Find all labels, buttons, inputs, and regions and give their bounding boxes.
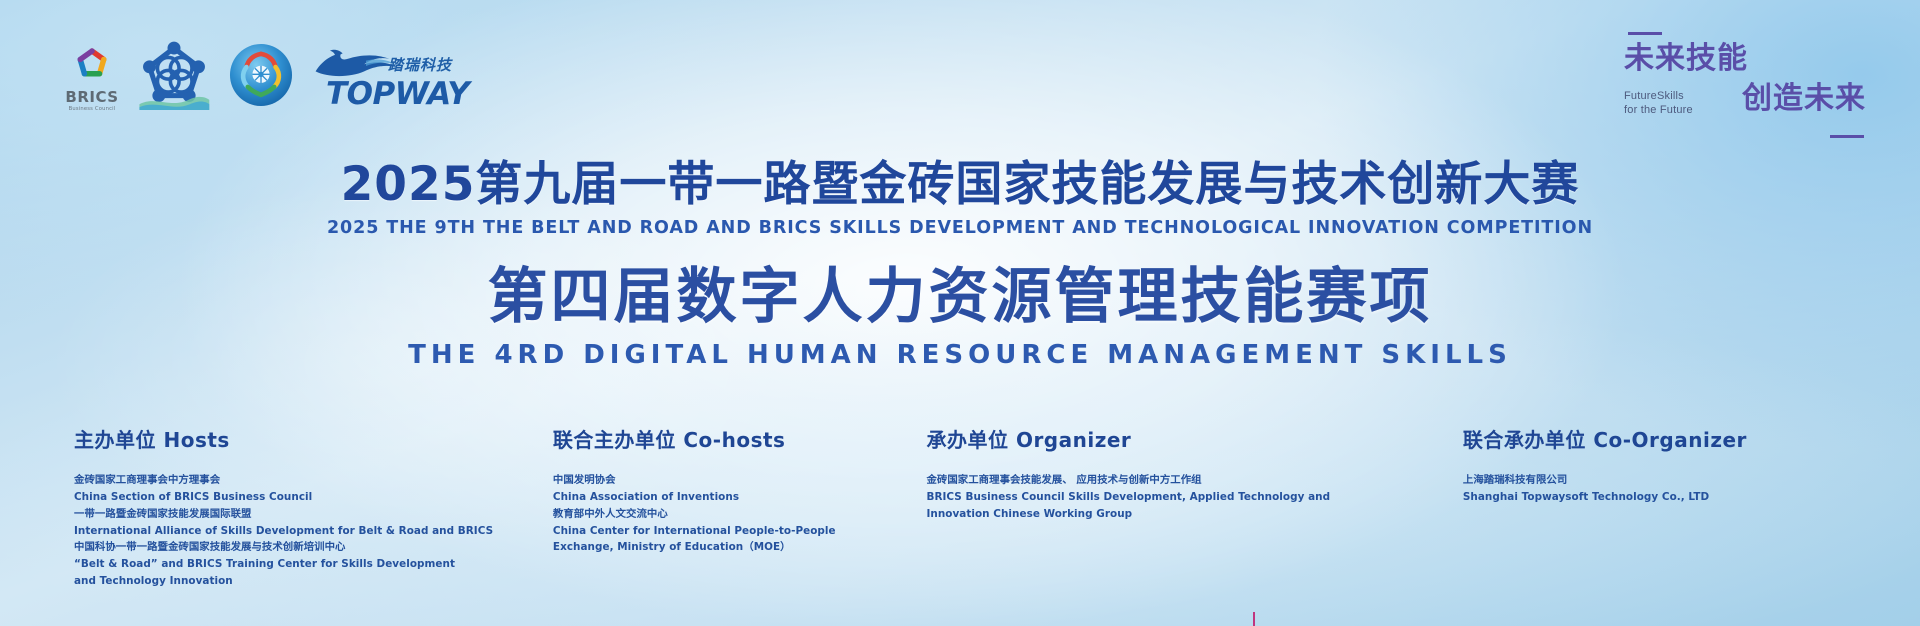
organizer-section: 主办单位 Hosts 金砖国家工商理事会中方理事会 China Section … xyxy=(0,430,1920,590)
organizer-line: 上海踏瑞科技有限公司 xyxy=(1463,472,1846,489)
organizer-column-organizer: 承办单位 Organizer 金砖国家工商理事会技能发展、 应用技术与创新中方工… xyxy=(926,430,1462,523)
brics-logo-subtext: Business Council xyxy=(64,107,120,112)
organizer-line: 一带一路暨金砖国家技能发展国际联盟 xyxy=(74,506,553,523)
organizer-lines: 上海踏瑞科技有限公司 Shanghai Topwaysoft Technolog… xyxy=(1463,472,1846,506)
event-title-chinese: 第四届数字人力资源管理技能赛项 xyxy=(0,264,1920,330)
brics-skills-emblem-logo xyxy=(228,40,294,112)
organizer-line: China Association of Inventions xyxy=(553,489,927,506)
event-title-english: THE 4RD DIGITAL HUMAN RESOURCE MANAGEMEN… xyxy=(0,340,1920,370)
organizer-line: Shanghai Topwaysoft Technology Co., LTD xyxy=(1463,489,1846,506)
organizer-column-cohosts: 联合主办单位 Co-hosts 中国发明协会 China Association… xyxy=(553,430,927,556)
organizer-line: China Center for International People-to… xyxy=(553,523,927,540)
banner-title-block: 2025第九届一带一路暨金砖国家技能发展与技术创新大赛 2025 THE 9TH… xyxy=(0,160,1920,370)
organizer-line: BRICS Business Council Skills Developmen… xyxy=(926,489,1462,506)
page-edge-marker xyxy=(1253,612,1255,626)
organizer-line: “Belt & Road” and BRICS Training Center … xyxy=(74,556,553,573)
topway-chinese-name: 踏瑞科技 xyxy=(388,54,452,75)
organizer-line: 金砖国家工商理事会中方理事会 xyxy=(74,472,553,489)
brics-star-icon xyxy=(71,46,113,88)
brics-logo-text: BRICS xyxy=(64,90,120,105)
organizer-heading: 联合主办单位 Co-hosts xyxy=(553,430,927,450)
organizer-column-hosts: 主办单位 Hosts 金砖国家工商理事会中方理事会 China Section … xyxy=(74,430,553,590)
organizer-line: China Section of BRICS Business Council xyxy=(74,489,553,506)
topway-logo: 踏瑞科技 TOPWAY xyxy=(312,46,452,112)
event-banner: BRICS Business Council xyxy=(0,0,1920,626)
organizer-line: 金砖国家工商理事会技能发展、 应用技术与创新中方工作组 xyxy=(926,472,1462,489)
knot-icon xyxy=(143,42,205,102)
organizer-heading: 主办单位 Hosts xyxy=(74,430,553,450)
organizer-line: International Alliance of Skills Develop… xyxy=(74,523,553,540)
organizer-line: 中国发明协会 xyxy=(553,472,927,489)
competition-title-chinese: 2025第九届一带一路暨金砖国家技能发展与技术创新大赛 xyxy=(0,160,1920,211)
organizer-line: 教育部中外人文交流中心 xyxy=(553,506,927,523)
slogan-english: FutureSkills for the Future xyxy=(1624,90,1693,118)
organizer-lines: 中国发明协会 China Association of Inventions 教… xyxy=(553,472,927,556)
slogan-rule-bottom xyxy=(1830,135,1864,138)
brics-business-council-logo: BRICS Business Council xyxy=(64,46,120,112)
organizer-lines: 金砖国家工商理事会技能发展、 应用技术与创新中方工作组 BRICS Busine… xyxy=(926,472,1462,523)
skills-alliance-knot-logo xyxy=(138,36,210,112)
organizer-line: Exchange, Ministry of Education（MOE） xyxy=(553,539,927,556)
slogan-english-line1: FutureSkills xyxy=(1624,90,1684,102)
slogan-chinese-line2: 创造未来 xyxy=(1742,84,1866,114)
organizer-heading: 联合承办单位 Co-Organizer xyxy=(1463,430,1846,450)
competition-title-english: 2025 THE 9TH THE BELT AND ROAD AND BRICS… xyxy=(0,218,1920,238)
slogan-chinese-line1: 未来技能 xyxy=(1624,44,1748,74)
organizer-line: Innovation Chinese Working Group xyxy=(926,506,1462,523)
organizer-lines: 金砖国家工商理事会中方理事会 China Section of BRICS Bu… xyxy=(74,472,553,590)
organizer-line: and Technology Innovation xyxy=(74,573,553,590)
slogan-english-line2: for the Future xyxy=(1624,104,1693,116)
organizer-heading: 承办单位 Organizer xyxy=(926,430,1462,450)
slogan-rule-top xyxy=(1628,32,1662,35)
topway-english-name: TOPWAY xyxy=(326,79,469,110)
organizer-column-coorganizer: 联合承办单位 Co-Organizer 上海踏瑞科技有限公司 Shanghai … xyxy=(1463,430,1846,506)
sponsor-logo-strip: BRICS Business Council xyxy=(64,34,452,112)
future-skills-slogan: 未来技能 FutureSkills for the Future 创造未来 xyxy=(1618,28,1868,138)
organizer-line: 中国科协一带一路暨金砖国家技能发展与技术创新培训中心 xyxy=(74,539,553,556)
